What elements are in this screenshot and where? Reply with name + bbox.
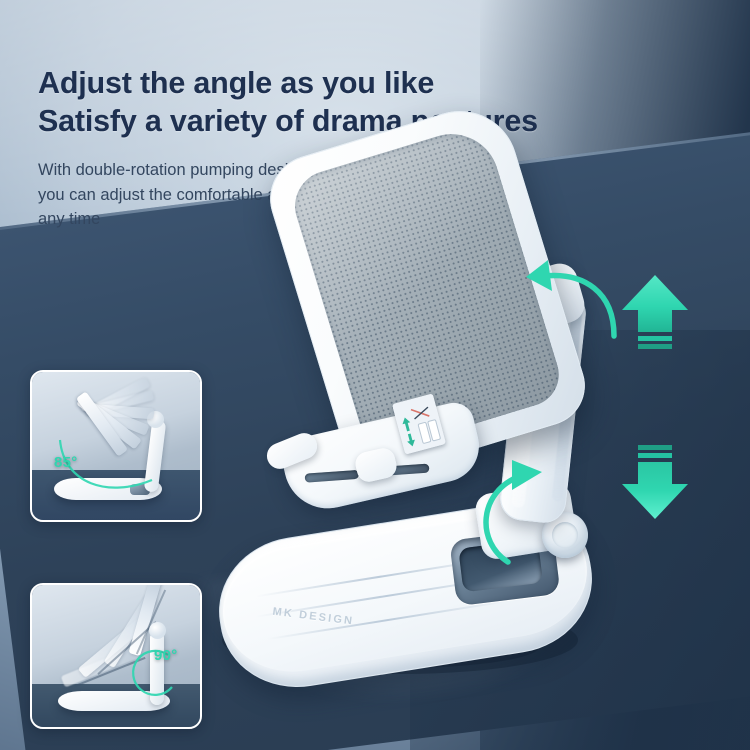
inset-angle-90: 90° <box>30 583 202 729</box>
inset-b-angle-label: 90° <box>154 647 178 664</box>
headline-line-1: Adjust the angle as you like <box>38 64 568 102</box>
inset-a-arc <box>50 402 170 502</box>
phone-stand-product: MK DESIGN <box>210 120 680 700</box>
inset-a-angle-label: 85° <box>54 454 78 471</box>
product-marketing-image: Adjust the angle as you like Satisfy a v… <box>0 0 750 750</box>
inset-b-pivot <box>149 622 166 639</box>
rotate-cradle-arrow <box>510 250 630 360</box>
rotate-arm-arrow <box>468 450 598 570</box>
lip-notch-1 <box>305 470 359 483</box>
lower-arrow-icon <box>614 440 696 522</box>
inset-angle-85: 85° <box>30 370 202 522</box>
raise-arrow-icon <box>614 272 696 354</box>
